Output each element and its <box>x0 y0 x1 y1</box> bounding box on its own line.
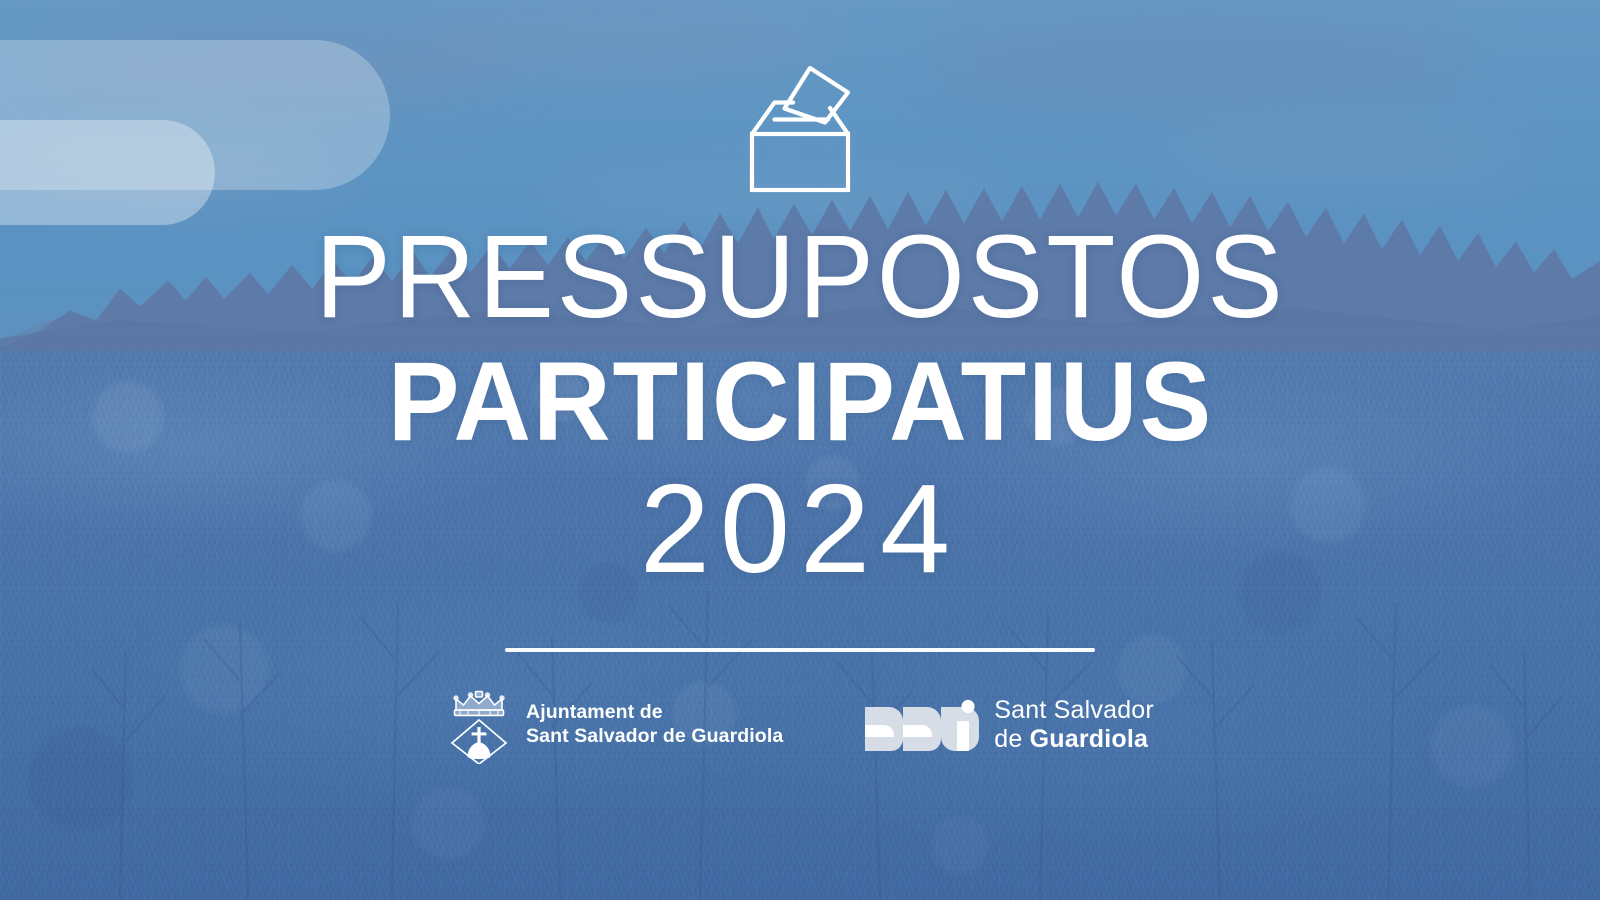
ssg-line-2: de Guardiola <box>994 725 1154 754</box>
poster-title-block: PRESSUPOSTOS PARTICIPATIUS 2024 <box>295 218 1306 592</box>
title-line-year: 2024 <box>295 466 1306 592</box>
title-line-participatius: PARTICIPATIUS <box>315 346 1285 458</box>
ssg-line-2-light: de <box>994 725 1029 753</box>
ballot-box-icon <box>744 62 856 194</box>
ssg-monogram-icon <box>861 699 979 751</box>
ajuntament-crest-icon <box>446 686 512 764</box>
ajuntament-logo: Ajuntament de Sant Salvador de Guardiola <box>446 686 783 764</box>
ssg-line-1: Sant Salvador <box>994 696 1154 725</box>
ssg-wordmark: Sant Salvador de Guardiola <box>994 696 1154 754</box>
logo-row: Ajuntament de Sant Salvador de Guardiola <box>446 686 1154 764</box>
ssg-logo: Sant Salvador de Guardiola <box>861 696 1154 754</box>
ajuntament-line-1: Ajuntament de <box>526 701 783 725</box>
ssg-line-2-bold: Guardiola <box>1030 725 1149 753</box>
poster-canvas: PRESSUPOSTOS PARTICIPATIUS 2024 <box>0 0 1600 900</box>
ajuntament-line-2: Sant Salvador de Guardiola <box>526 725 783 749</box>
title-line-pressupostos: PRESSUPOSTOS <box>315 218 1285 336</box>
poster-content: PRESSUPOSTOS PARTICIPATIUS 2024 <box>0 0 1600 900</box>
ajuntament-wordmark: Ajuntament de Sant Salvador de Guardiola <box>526 701 783 749</box>
horizontal-divider <box>505 648 1095 652</box>
